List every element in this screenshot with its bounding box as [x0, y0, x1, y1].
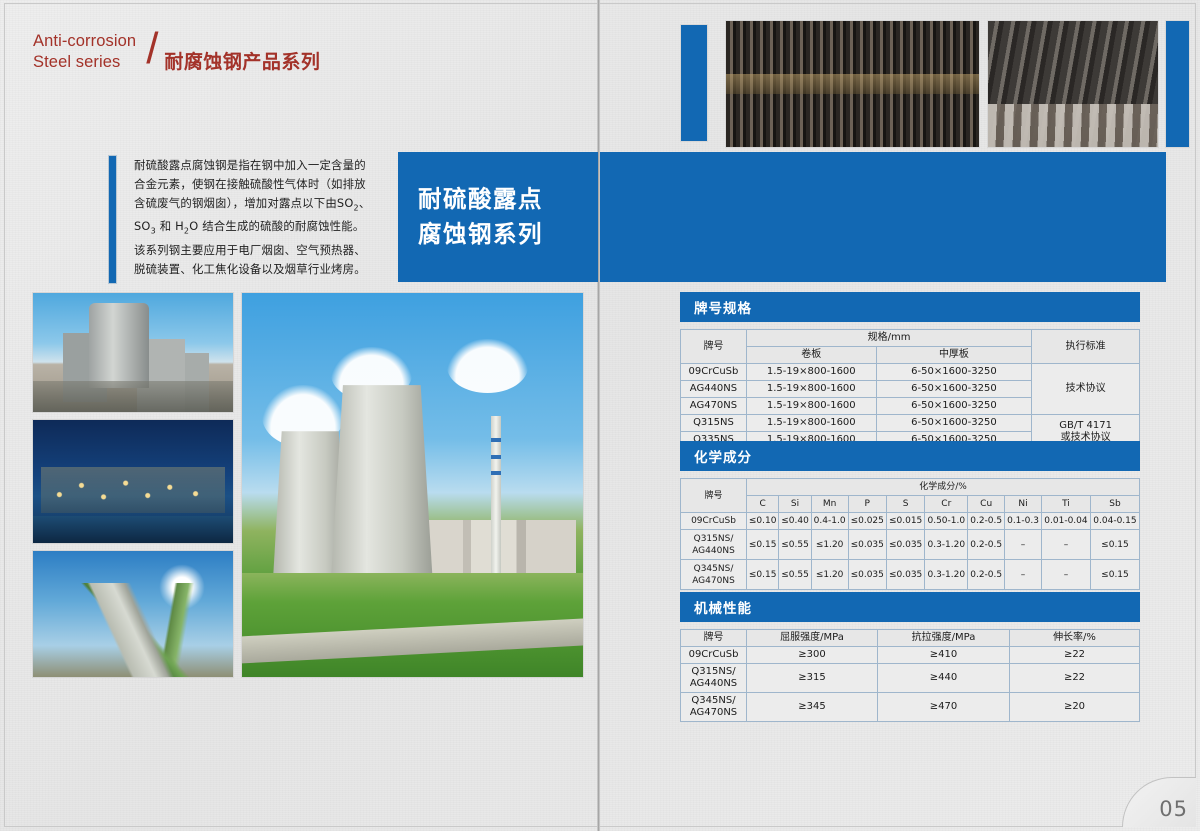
page-heading: Anti-corrosionSteel series / 耐腐蚀钢产品系列: [33, 31, 320, 73]
mech-brand: Q315NS/ AG440NS: [681, 664, 747, 693]
finned-coil-photo: [725, 20, 980, 148]
description-line-1: 耐硫酸露点腐蚀钢是指在钢中加入一定含量的: [134, 158, 366, 172]
mech-brand: Q345NS/ AG470NS: [681, 693, 747, 722]
chem-header-el-sb: Sb: [1090, 496, 1139, 513]
spec-coil: 1.5-19×800-1600: [746, 364, 876, 381]
spec-plate: 6-50×1600-3250: [876, 381, 1032, 398]
chem-value: ≤0.10: [747, 513, 779, 530]
strip-accent-bar-right: [1165, 20, 1190, 148]
chem-value: ≤0.025: [848, 513, 886, 530]
chem-value: ≤1.20: [811, 530, 848, 560]
chem-value: ≤0.15: [747, 530, 779, 560]
description-text: 耐硫酸露点腐蚀钢是指在钢中加入一定含量的 合金元素，使钢在接触硫酸性气体时（如排…: [117, 155, 408, 284]
strip-accent-bar-left: [680, 24, 708, 142]
chem-header-row-1: 牌号 化学成分/%: [681, 479, 1140, 496]
mech-elongation: ≥22: [1010, 647, 1140, 664]
spec-header-brand: 牌号: [681, 330, 747, 364]
heading-english-line1: Anti-corrosion: [33, 32, 136, 50]
chem-value: ≤0.55: [779, 530, 811, 560]
mech-header-row: 牌号 屈服强度/MPa 抗拉强度/MPa 伸长率/%: [681, 630, 1140, 647]
heading-chinese: 耐腐蚀钢产品系列: [164, 52, 320, 73]
chem-value: ≤0.035: [886, 530, 924, 560]
chem-value: 0.3-1.20: [925, 560, 968, 590]
chem-value: ≤0.035: [886, 560, 924, 590]
spec-header-plate: 中厚板: [876, 347, 1032, 364]
product-title-line2: 腐蚀钢系列: [418, 217, 598, 252]
chem-value: 0.4-1.0: [811, 513, 848, 530]
chem-value: 0.04-0.15: [1090, 513, 1139, 530]
chem-header-el-cu: Cu: [968, 496, 1005, 513]
mech-header-elongation: 伸长率/%: [1010, 630, 1140, 647]
mech-yield: ≥315: [747, 664, 878, 693]
section-chem: 化学成分 牌号 化学成分/% C Si Mn P S Cr Cu Ni Ti S…: [680, 441, 1140, 590]
chem-header-row-2: C Si Mn P S Cr Cu Ni Ti Sb: [681, 496, 1140, 513]
page-number: 05: [1159, 797, 1188, 821]
mech-table: 牌号 屈服强度/MPa 抗拉强度/MPa 伸长率/% 09CrCuSb ≥300…: [680, 629, 1140, 722]
mech-header-tensile: 抗拉强度/MPa: [878, 630, 1010, 647]
mech-yield: ≥345: [747, 693, 878, 722]
chem-value: –: [1005, 530, 1042, 560]
heading-english: Anti-corrosionSteel series: [33, 31, 136, 73]
chem-table: 牌号 化学成分/% C Si Mn P S Cr Cu Ni Ti Sb 09C…: [680, 478, 1140, 590]
spec-brand: Q315NS: [681, 415, 747, 432]
description-line-5: 该系列钢主要应用于电厂烟囱、空气预热器、: [134, 243, 366, 257]
chem-value: –: [1005, 560, 1042, 590]
chem-value: ≤1.20: [811, 560, 848, 590]
spec-coil: 1.5-19×800-1600: [746, 398, 876, 415]
table-row: Q345NS/ AG470NS ≤0.15 ≤0.55 ≤1.20 ≤0.035…: [681, 560, 1140, 590]
section-chem-title: 化学成分: [680, 441, 1140, 471]
finned-tubes-photo: [987, 20, 1159, 148]
spec-coil: 1.5-19×800-1600: [746, 415, 876, 432]
table-row: 09CrCuSb 1.5-19×800-1600 6-50×1600-3250 …: [681, 364, 1140, 381]
chem-value: –: [1041, 530, 1090, 560]
spec-header-coil: 卷板: [746, 347, 876, 364]
spec-brand: AG470NS: [681, 398, 747, 415]
heading-slash: /: [146, 27, 158, 71]
table-row: Q315NS/ AG440NS ≤0.15 ≤0.55 ≤1.20 ≤0.035…: [681, 530, 1140, 560]
chem-header-el-s: S: [886, 496, 924, 513]
section-mech-title: 机械性能: [680, 592, 1140, 622]
description-line-6: 脱硫装置、化工焦化设备以及烟草行业烤房。: [134, 262, 366, 276]
chem-value: –: [1041, 560, 1090, 590]
mech-elongation: ≥20: [1010, 693, 1140, 722]
book-spine-divider: [597, 0, 600, 831]
spec-brand: AG440NS: [681, 381, 747, 398]
spec-plate: 6-50×1600-3250: [876, 364, 1032, 381]
description-accent-bar: [108, 155, 117, 284]
description-line-4c: O 结合生成的硫酸的耐腐蚀性能。: [189, 219, 364, 233]
mech-elongation: ≥22: [1010, 664, 1140, 693]
spec-plate: 6-50×1600-3250: [876, 398, 1032, 415]
chem-value: ≤0.15: [1090, 530, 1139, 560]
mech-header-brand: 牌号: [681, 630, 747, 647]
smokestack: [491, 416, 501, 577]
mech-brand: 09CrCuSb: [681, 647, 747, 664]
chem-brand: Q315NS/ AG440NS: [681, 530, 747, 560]
chem-header-el-ti: Ti: [1041, 496, 1090, 513]
chem-value: 0.1-0.3: [1005, 513, 1042, 530]
chem-value: 0.3-1.20: [925, 530, 968, 560]
chem-header-el-p: P: [848, 496, 886, 513]
chem-brand: 09CrCuSb: [681, 513, 747, 530]
power-plant-photo: [241, 292, 584, 678]
spec-plate: 6-50×1600-3250: [876, 415, 1032, 432]
cooling-tower-2: [331, 385, 433, 585]
chem-header-el-si: Si: [779, 496, 811, 513]
petrochemical-night-photo: [32, 419, 234, 544]
mech-tensile: ≥440: [878, 664, 1010, 693]
chem-header-el-mn: Mn: [811, 496, 848, 513]
chem-value: ≤0.15: [747, 560, 779, 590]
description-line-3b: 、: [359, 196, 371, 210]
chem-value: ≤0.15: [1090, 560, 1139, 590]
mech-yield: ≥300: [747, 647, 878, 664]
table-row: Q315NS 1.5-19×800-1600 6-50×1600-3250 GB…: [681, 415, 1140, 432]
spec-brand: 09CrCuSb: [681, 364, 747, 381]
chem-header-brand: 牌号: [681, 479, 747, 513]
chem-header-el-cr: Cr: [925, 496, 968, 513]
refinery-photo: [32, 292, 234, 413]
spec-header-standard: 执行标准: [1032, 330, 1140, 364]
photo-column-left: [32, 292, 234, 678]
spec-coil: 1.5-19×800-1600: [746, 381, 876, 398]
description-block: 耐硫酸露点腐蚀钢是指在钢中加入一定含量的 合金元素，使钢在接触硫酸性气体时（如排…: [108, 155, 408, 284]
section-mech: 机械性能 牌号 屈服强度/MPa 抗拉强度/MPa 伸长率/% 09CrCuSb…: [680, 592, 1140, 722]
chem-value: 0.01-0.04: [1041, 513, 1090, 530]
chem-value: 0.2-0.5: [968, 513, 1005, 530]
chem-value: 0.50-1.0: [925, 513, 968, 530]
chem-value: ≤0.035: [848, 530, 886, 560]
chem-value: 0.2-0.5: [968, 530, 1005, 560]
table-row: Q315NS/ AG440NS ≥315 ≥440 ≥22: [681, 664, 1140, 693]
spec-standard-group-1: 技术协议: [1032, 364, 1140, 415]
chem-header-el-c: C: [747, 496, 779, 513]
description-line-4a: SO: [134, 219, 151, 233]
title-blue-band-right: [600, 152, 1166, 282]
chem-value: ≤0.015: [886, 513, 924, 530]
table-row: 09CrCuSb ≤0.10 ≤0.40 0.4-1.0 ≤0.025 ≤0.0…: [681, 513, 1140, 530]
table-row: Q345NS/ AG470NS ≥345 ≥470 ≥20: [681, 693, 1140, 722]
chem-value: 0.2-0.5: [968, 560, 1005, 590]
chem-value: ≤0.035: [848, 560, 886, 590]
chem-brand: Q345NS/ AG470NS: [681, 560, 747, 590]
mech-tensile: ≥470: [878, 693, 1010, 722]
table-row: 09CrCuSb ≥300 ≥410 ≥22: [681, 647, 1140, 664]
product-title-block: 耐硫酸露点 腐蚀钢系列: [398, 152, 598, 282]
pipeline-sun-photo: [32, 550, 234, 678]
chem-value: ≤0.40: [779, 513, 811, 530]
steam-plume-3: [447, 339, 529, 393]
description-line-2: 合金元素，使钢在接触硫酸性气体时（如排放: [134, 177, 366, 191]
chem-header-el-ni: Ni: [1005, 496, 1042, 513]
mech-tensile: ≥410: [878, 647, 1010, 664]
chem-value: ≤0.55: [779, 560, 811, 590]
heading-english-line2: Steel series: [33, 53, 120, 71]
spec-table: 牌号 规格/mm 执行标准 卷板 中厚板 09CrCuSb 1.5-19×800…: [680, 329, 1140, 449]
mech-header-yield: 屈服强度/MPa: [747, 630, 878, 647]
section-spec: 牌号规格 牌号 规格/mm 执行标准 卷板 中厚板 09CrCuSb 1.5-1…: [680, 292, 1140, 449]
spec-header-spec-group: 规格/mm: [746, 330, 1031, 347]
spec-header-row-1: 牌号 规格/mm 执行标准: [681, 330, 1140, 347]
product-title-line1: 耐硫酸露点: [418, 182, 598, 217]
description-line-3a: 含硫废气的钢烟囱），增加对露点以下由SO: [134, 196, 354, 210]
chem-header-group: 化学成分/%: [747, 479, 1140, 496]
description-line-4b: 和 H: [156, 219, 184, 233]
section-spec-title: 牌号规格: [680, 292, 1140, 322]
page-number-corner: 05: [1122, 777, 1196, 827]
